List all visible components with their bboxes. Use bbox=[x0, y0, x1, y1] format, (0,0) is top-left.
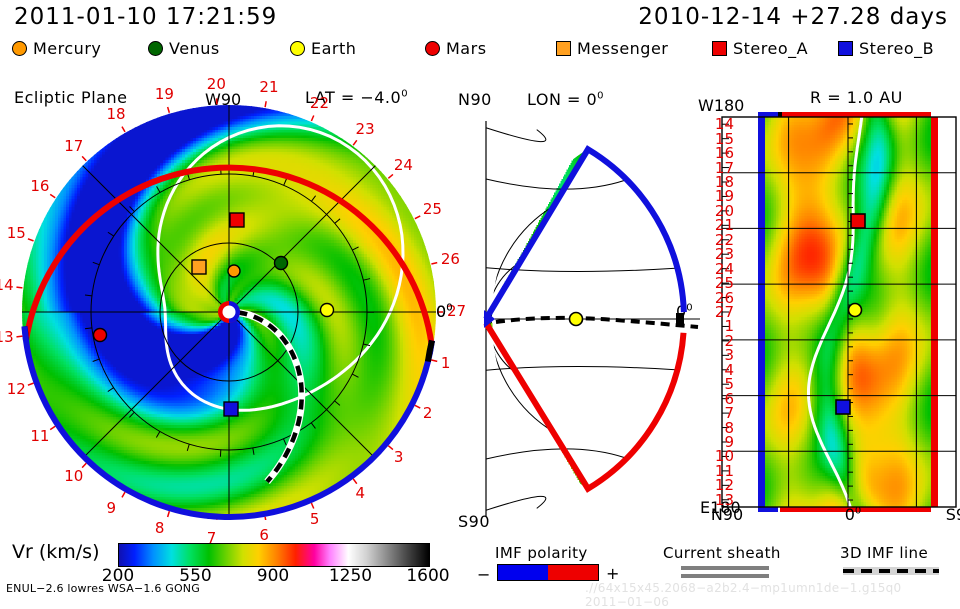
earth-marker[interactable] bbox=[321, 304, 334, 317]
imf-polarity-title: IMF polarity bbox=[495, 544, 588, 562]
timestamp-left: 2011-01-10 17:21:59 bbox=[14, 4, 277, 30]
timestamp-right: 2010-12-14 +27.28 days bbox=[638, 4, 948, 30]
current-sheath-line-upper bbox=[681, 566, 769, 570]
imf-polarity-positive-swatch bbox=[548, 565, 598, 580]
earth-marker[interactable] bbox=[849, 304, 862, 317]
legend-item-messenger: Messenger bbox=[556, 39, 668, 58]
legend-item-stereo_a: Stereo_A bbox=[712, 39, 808, 58]
messenger-marker[interactable] bbox=[192, 260, 206, 274]
colorbar-tick-1600: 1600 bbox=[406, 566, 450, 586]
legend-marker-messenger-icon bbox=[556, 41, 571, 56]
legend-marker-mercury-icon bbox=[12, 41, 27, 56]
imf-3d-line-dash bbox=[843, 569, 939, 573]
stereo-b-marker[interactable] bbox=[836, 400, 850, 414]
run-id-watermark: .//64x15x45.2068−a2b2.4−mp1umn1de−1.g15q… bbox=[585, 581, 960, 609]
stereo-a-marker[interactable] bbox=[230, 213, 244, 227]
colorbar-gradient[interactable] bbox=[118, 543, 430, 567]
legend-item-mercury: Mercury bbox=[12, 39, 101, 58]
imf-polarity-minus: − bbox=[477, 565, 490, 584]
legend-marker-stereo_b-icon bbox=[838, 41, 853, 56]
colorbar-tick-1250: 1250 bbox=[329, 566, 373, 586]
imf-3d-line-title: 3D IMF line bbox=[840, 544, 928, 562]
ecliptic-tick-8: 8 bbox=[155, 519, 165, 537]
colorbar-tick-900: 900 bbox=[251, 566, 295, 586]
legend-item-stereo_b: Stereo_B bbox=[838, 39, 934, 58]
ecliptic-plot[interactable] bbox=[0, 80, 450, 520]
current-sheath-line-lower bbox=[681, 574, 769, 578]
legend-item-venus: Venus bbox=[148, 39, 220, 58]
legend-label: Venus bbox=[169, 39, 220, 58]
venus-marker[interactable] bbox=[275, 257, 288, 270]
mars-marker[interactable] bbox=[94, 329, 107, 342]
legend-label: Mercury bbox=[33, 39, 101, 58]
legend-marker-mars-icon bbox=[425, 41, 440, 56]
legend-label: Stereo_B bbox=[859, 39, 934, 58]
legend-marker-earth-icon bbox=[290, 41, 305, 56]
current-sheath-title: Current sheath bbox=[663, 544, 781, 562]
earth-marker[interactable] bbox=[570, 313, 583, 326]
timeline-plot[interactable] bbox=[700, 95, 960, 525]
legend-item-earth: Earth bbox=[290, 39, 356, 58]
colorbar-label: Vr (km/s) bbox=[12, 541, 100, 563]
legend-marker-stereo_a-icon bbox=[712, 41, 727, 56]
stereo-b-marker[interactable] bbox=[224, 402, 238, 416]
mercury-marker[interactable] bbox=[228, 265, 240, 277]
legend-label: Mars bbox=[446, 39, 487, 58]
ecliptic-tick-6: 6 bbox=[259, 526, 269, 544]
imf-polarity-bar bbox=[497, 564, 599, 581]
stereo-a-marker[interactable] bbox=[851, 214, 865, 228]
legend-marker-venus-icon bbox=[148, 41, 163, 56]
legend-label: Stereo_A bbox=[733, 39, 808, 58]
imf-polarity-negative-swatch bbox=[498, 565, 548, 580]
legend-item-mars: Mars bbox=[425, 39, 487, 58]
meridional-plot[interactable] bbox=[440, 95, 700, 525]
model-footer: ENUL−2.6 lowres WSA−1.6 GONG bbox=[6, 582, 200, 595]
legend-label: Messenger bbox=[577, 39, 668, 58]
legend-label: Earth bbox=[311, 39, 356, 58]
